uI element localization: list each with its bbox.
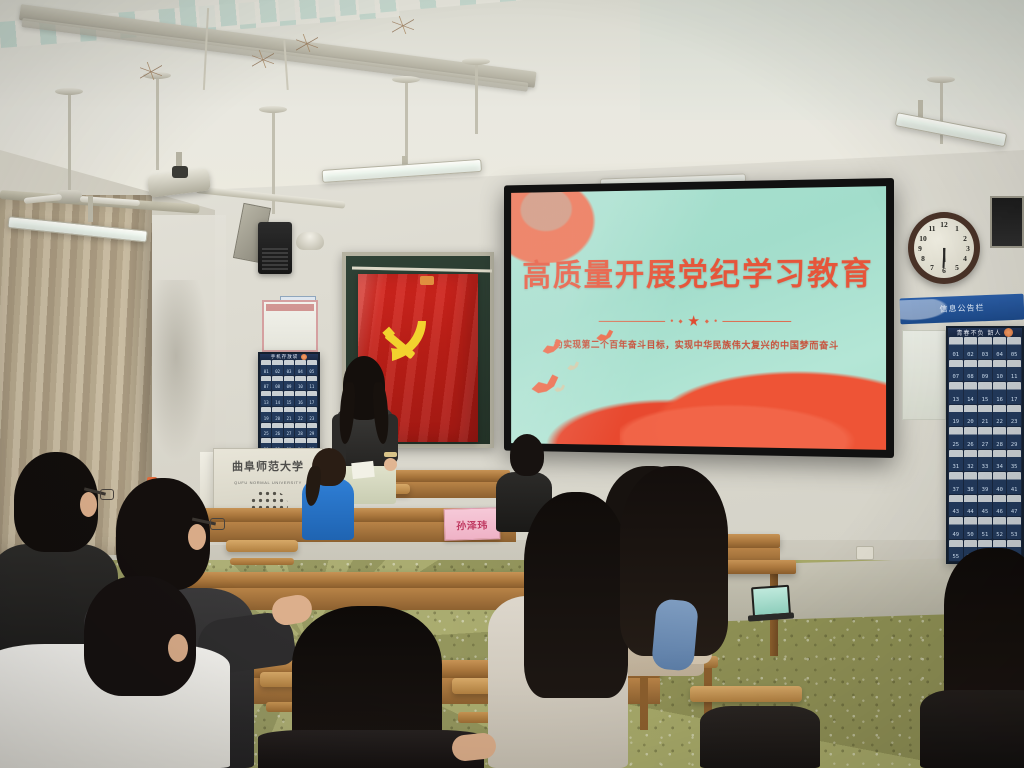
pocket-slot: 10 — [993, 360, 1007, 382]
pocket-slot: 07 — [949, 360, 963, 382]
pocket-slot: 11 — [307, 376, 317, 391]
fan-mount — [259, 106, 287, 113]
divider-diamond-left — [678, 319, 682, 323]
fan-pole — [156, 74, 159, 170]
presenter-hand-right — [384, 458, 397, 471]
presenter-paper — [351, 461, 375, 479]
student-torso — [700, 706, 820, 768]
pocket-slot: 22 — [295, 407, 305, 422]
pocket-chart-row: 1314151617 — [948, 382, 1022, 405]
chair — [226, 540, 298, 552]
pocket-slot: 04 — [295, 360, 305, 375]
pocket-chart-row: 0708091011 — [948, 360, 1022, 383]
speaker-grille — [262, 248, 288, 270]
pocket-chart-row: 0708091011 — [260, 376, 318, 392]
student-ear — [168, 634, 188, 662]
pocket-slot: 21 — [284, 407, 294, 422]
pocket-slot: 13 — [261, 391, 271, 406]
phone-pocket-chart-left: 手机存放袋 0102030405070809101113141516171920… — [258, 352, 320, 456]
clock-number: 3 — [963, 245, 973, 253]
pocket-slot: 13 — [949, 382, 963, 404]
clock-number: 9 — [915, 245, 925, 253]
wall-stain — [152, 280, 212, 470]
pocket-slot: 15 — [284, 391, 294, 406]
pocket-slot: 23 — [307, 407, 317, 422]
pocket-slot: 26 — [964, 427, 978, 449]
pocket-slot: 31 — [949, 450, 963, 472]
pocket-chart-row: 2526272829 — [948, 427, 1022, 450]
seal-icon — [1004, 328, 1013, 337]
slide-divider: • ★ • — [511, 314, 886, 329]
slide-subtitle: 为实现第二个百年奋斗目标，实现中华民族伟大复兴的中国梦而奋斗 — [511, 337, 886, 352]
pocket-chart-row: 1920212223 — [948, 405, 1022, 428]
pocket-slot: 04 — [993, 337, 1007, 359]
pocket-slot: 01 — [261, 360, 271, 375]
student-ear — [188, 524, 206, 550]
pocket-slot: 52 — [993, 517, 1007, 539]
pocket-slot: 02 — [964, 337, 978, 359]
clock-hand-minute — [942, 248, 945, 268]
wall-monitor — [990, 196, 1024, 248]
pocket-slot: 45 — [978, 495, 992, 517]
student-torso — [920, 690, 1024, 768]
pocket-chart-header: 青春不负 韶人 — [948, 328, 1022, 337]
fan-mount — [927, 76, 955, 83]
pocket-slot: 50 — [964, 517, 978, 539]
pocket-slot: 02 — [272, 360, 282, 375]
wire-bundle — [140, 62, 162, 80]
student-torso — [258, 730, 484, 768]
divider-line-left — [598, 321, 664, 322]
clock-number: 7 — [927, 264, 937, 272]
clock-number: 5 — [952, 264, 962, 272]
pocket-slot: 15 — [978, 382, 992, 404]
pocket-slot: 27 — [978, 427, 992, 449]
pocket-chart-row: 4950515253 — [948, 517, 1022, 540]
clock-number: 4 — [960, 255, 970, 263]
slide-ribbon-highlight — [620, 391, 887, 450]
student-hair — [524, 492, 628, 698]
flag-clip — [420, 276, 434, 285]
pocket-slot: 25 — [261, 423, 271, 438]
wall-clock: 12 1 2 3 4 5 6 7 8 9 10 11 — [908, 212, 980, 284]
name-card: 孙泽玮 — [444, 507, 501, 540]
hammer-and-sickle-emblem — [378, 315, 434, 367]
pocket-slot: 19 — [949, 405, 963, 427]
pocket-slot: 44 — [964, 495, 978, 517]
pocket-slot: 09 — [978, 360, 992, 382]
fan-mount — [462, 58, 490, 65]
pocket-slot: 11 — [1007, 360, 1021, 382]
pocket-chart-row: 1920212223 — [260, 407, 318, 423]
clock-face: 12 1 2 3 4 5 6 7 8 9 10 11 — [914, 218, 974, 278]
pocket-chart-row: 3738394041 — [948, 472, 1022, 495]
pocket-chart-row: 0102030405 — [260, 360, 318, 376]
presenter-watch — [384, 452, 397, 457]
divider-line-right — [723, 321, 792, 323]
wire-bundle — [252, 50, 274, 68]
clock-number: 2 — [960, 235, 970, 243]
wire-bundle — [392, 16, 414, 34]
wall-outlet — [856, 546, 874, 560]
pocket-slot: 01 — [949, 337, 963, 359]
pocket-slot: 26 — [272, 423, 282, 438]
pocket-slot: 53 — [1007, 517, 1021, 539]
fan-pole — [475, 60, 478, 134]
clock-number: 11 — [927, 225, 937, 233]
pocket-chart-rows: 0102030405070809101113141516171920212223… — [948, 337, 1022, 562]
pocket-slot: 38 — [964, 472, 978, 494]
pocket-slot: 25 — [949, 427, 963, 449]
pocket-slot: 34 — [993, 450, 1007, 472]
pocket-chart-row: 1314151617 — [260, 391, 318, 407]
pocket-slot: 23 — [1007, 405, 1021, 427]
glasses-lens — [210, 518, 225, 530]
clock-number: 8 — [918, 255, 928, 263]
left-wall-notice-bar — [266, 304, 314, 311]
pocket-slot: 29 — [307, 423, 317, 438]
pocket-chart-row: 4344454647 — [948, 495, 1022, 518]
fan-mount — [392, 76, 420, 83]
pocket-slot: 41 — [1007, 472, 1021, 494]
student-ear — [80, 492, 97, 517]
student-head — [510, 434, 544, 476]
pocket-slot: 09 — [284, 376, 294, 391]
projection-screen: 高质量开展党纪学习教育 • ★ • 为实现第二个百年奋斗目标，实现中华民族伟大复… — [504, 178, 894, 458]
dome-camera — [296, 232, 324, 250]
pocket-slot: 17 — [307, 391, 317, 406]
pocket-slot: 51 — [978, 517, 992, 539]
pocket-slot: 46 — [993, 495, 1007, 517]
pocket-slot: 19 — [261, 407, 271, 422]
student-denim-sleeve — [651, 598, 699, 671]
pocket-slot: 05 — [307, 360, 317, 375]
fan-mount — [55, 88, 83, 95]
pocket-slot: 55 — [949, 540, 963, 562]
glasses-lens — [100, 489, 114, 500]
pocket-chart-header-text: 青春不负 韶人 — [957, 328, 1002, 337]
fan-pole — [68, 90, 71, 194]
ceiling-panel — [640, 0, 1024, 120]
desk — [150, 572, 530, 588]
slide-corner-blob-grey — [515, 186, 578, 236]
projector-lens — [172, 166, 188, 178]
pocket-slot: 08 — [964, 360, 978, 382]
slide-title: 高质量开展党纪学习教育 — [511, 248, 886, 295]
pocket-slot: 33 — [978, 450, 992, 472]
pocket-slot: 32 — [964, 450, 978, 472]
clock-number: 12 — [939, 221, 949, 229]
pocket-slot: 03 — [978, 337, 992, 359]
pocket-slot: 43 — [949, 495, 963, 517]
podium-university-name-en: QUFU NORMAL UNIVERSITY — [232, 480, 304, 485]
pocket-slot: 35 — [1007, 450, 1021, 472]
pocket-slot: 05 — [1007, 337, 1021, 359]
pocket-slot: 47 — [1007, 495, 1021, 517]
divider-dot-right: • — [714, 317, 717, 326]
pocket-slot: 16 — [993, 382, 1007, 404]
pocket-slot: 08 — [272, 376, 282, 391]
pocket-slot: 14 — [272, 391, 282, 406]
chair-slat — [230, 558, 294, 565]
pocket-slot: 07 — [261, 376, 271, 391]
pocket-slot: 49 — [949, 517, 963, 539]
pocket-chart-row: 0102030405 — [948, 337, 1022, 360]
pocket-slot: 28 — [993, 427, 1007, 449]
clock-number: 1 — [952, 225, 962, 233]
divider-diamond-right — [705, 319, 709, 323]
pocket-slot: 14 — [964, 382, 978, 404]
phone-pocket-chart-right: 青春不负 韶人 01020304050708091011131415161719… — [946, 326, 1024, 564]
chair — [690, 686, 802, 702]
slide-surface: 高质量开展党纪学习教育 • ★ • 为实现第二个百年奋斗目标，实现中华民族伟大复… — [511, 186, 886, 450]
divider-star: ★ — [687, 314, 700, 329]
pocket-slot: 27 — [284, 423, 294, 438]
pocket-slot: 28 — [295, 423, 305, 438]
classroom-photo: 高质量开展党纪学习教育 • ★ • 为实现第二个百年奋斗目标，实现中华民族伟大复… — [0, 0, 1024, 768]
pocket-slot: 40 — [993, 472, 1007, 494]
pocket-slot: 20 — [964, 405, 978, 427]
wall-paper-notice — [902, 330, 946, 420]
pocket-slot: 17 — [1007, 382, 1021, 404]
pocket-chart-row: 2526272829 — [260, 423, 318, 439]
pocket-slot: 29 — [1007, 427, 1021, 449]
pocket-slot: 16 — [295, 391, 305, 406]
pocket-chart-rows: 0102030405070809101113141516171920212223… — [260, 360, 318, 454]
wire-bundle — [296, 34, 318, 52]
pocket-slot: 39 — [978, 472, 992, 494]
divider-dot-left: • — [670, 317, 673, 326]
pocket-slot: 37 — [949, 472, 963, 494]
pocket-slot: 20 — [272, 407, 282, 422]
pocket-slot: 10 — [295, 376, 305, 391]
pocket-slot: 03 — [284, 360, 294, 375]
pocket-slot: 22 — [993, 405, 1007, 427]
fan-pole — [405, 78, 408, 164]
light-bracket — [88, 196, 93, 222]
clock-number: 6 — [939, 267, 949, 275]
pocket-slot: 21 — [978, 405, 992, 427]
clock-number: 10 — [918, 235, 928, 243]
pocket-chart-row: 3132333435 — [948, 450, 1022, 473]
